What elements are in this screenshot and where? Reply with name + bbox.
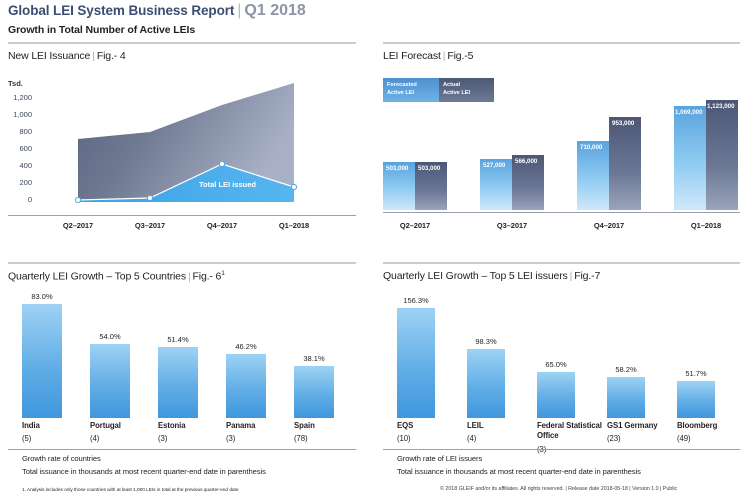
fig6-category-label: Estonia <box>158 421 185 431</box>
panel-top5-lei-issuers: Quarterly LEI Growth – Top 5 LEI issuers… <box>375 262 750 499</box>
fig7-category-label: EQS <box>397 421 459 431</box>
fig6-bar-value: 46.2% <box>216 342 276 351</box>
fig6-category-label: Panama <box>226 421 255 431</box>
fig6-bar <box>90 344 130 418</box>
fig7-bar-value: 58.2% <box>597 365 655 374</box>
fig6-bar-value: 51.4% <box>148 335 208 344</box>
fig7-category-paren: (23) <box>607 434 620 443</box>
fig5-bar-value: 1,123,000 <box>707 103 735 110</box>
fig4-xtick: Q1–2018 <box>259 221 329 230</box>
fig6-title-separator: | <box>186 271 193 283</box>
fig4-plot <box>0 42 372 242</box>
fig7-category-paren: (49) <box>677 434 690 443</box>
fig5-bar-actual <box>706 100 738 210</box>
fig7-x-axis <box>383 449 740 450</box>
fig6-figure-number: Fig.- 6 <box>193 271 222 283</box>
panel-new-lei-issuance: New LEI Issuance|Fig.- 4 Tsd. 1,200 1,00… <box>0 42 372 242</box>
fig5-bar-value: 503,000 <box>418 165 440 172</box>
fig5-legend-forecast: Forecasted Active LEI <box>383 78 439 102</box>
fig7-category-label: LEIL <box>467 421 529 431</box>
fig4-marker <box>75 197 80 202</box>
fig6-bar <box>294 366 334 418</box>
fig4-label-new: New issuance <box>200 232 250 241</box>
fig6-title-superscript: 1 <box>221 270 224 277</box>
fig5-bar-value: 1,069,000 <box>675 109 703 116</box>
fig7-bar-value: 98.3% <box>457 337 515 346</box>
fig6-bar-value: 54.0% <box>80 332 140 341</box>
report-subtitle: Growth in Total Number of Active LEIs <box>8 24 195 36</box>
fig5-legend-actual: Actual Active LEI <box>439 78 494 102</box>
report-quarter: Q1 2018 <box>244 2 305 19</box>
fig7-bar <box>607 377 645 418</box>
fig7-note-1: Growth rate of LEI issuers <box>397 454 482 463</box>
fig6-category-paren: (4) <box>90 434 99 443</box>
fig7-category-paren: (10) <box>397 434 410 443</box>
fig6-category-label: Spain <box>294 421 315 431</box>
fig5-figure-number: Fig.-5 <box>447 50 473 62</box>
fig5-bar-value: 953,000 <box>612 120 634 127</box>
fig6-bar-value: 83.0% <box>12 292 72 301</box>
report-page: Global LEI System Business Report|Q1 201… <box>0 0 750 499</box>
fig4-marker <box>219 161 224 166</box>
panel-top5-countries: Quarterly LEI Growth – Top 5 Countries|F… <box>0 262 372 499</box>
fig7-note-2: Total issuance in thousands at most rece… <box>397 467 641 476</box>
fig5-bar-value: 503,000 <box>386 165 408 172</box>
fig7-bar <box>537 372 575 418</box>
fig4-marker <box>291 184 296 189</box>
fig6-title-text: Quarterly LEI Growth – Top 5 Countries <box>8 271 186 283</box>
fig6-footnote: 1. Analysis includes only those countrie… <box>22 488 238 493</box>
copyright-line: © 2018 GLEIF and/or its affiliates. All … <box>440 486 677 492</box>
fig6-bar-value: 38.1% <box>284 354 344 363</box>
fig7-bar-value: 65.0% <box>527 360 585 369</box>
fig6-note-1: Growth rate of countries <box>22 454 101 463</box>
fig6-category-paren: (5) <box>22 434 31 443</box>
fig6-title: Quarterly LEI Growth – Top 5 Countries|F… <box>8 270 225 283</box>
fig7-title: Quarterly LEI Growth – Top 5 LEI issuers… <box>383 270 600 282</box>
fig5-xtick: Q2–2017 <box>380 221 450 230</box>
fig6-category-paren: (3) <box>158 434 167 443</box>
fig7-bar <box>677 381 715 418</box>
fig7-category-label: Federal Statistical Office <box>537 421 605 441</box>
fig6-category-label: Portugal <box>90 421 121 431</box>
fig5-bar-value: 527,000 <box>483 162 505 169</box>
report-header: Global LEI System Business Report|Q1 201… <box>8 2 306 20</box>
fig5-xtick: Q3–2017 <box>477 221 547 230</box>
panel-lei-forecast: LEI Forecast|Fig.-5 Forecasted Active LE… <box>375 42 750 242</box>
fig5-title-text: LEI Forecast <box>383 50 441 62</box>
header-separator: | <box>234 2 244 19</box>
fig6-bar <box>226 354 266 418</box>
fig5-bar-forecast <box>674 106 706 210</box>
fig5-bar-value: 566,000 <box>515 158 537 165</box>
fig7-bar-value: 156.3% <box>387 296 445 305</box>
fig4-xtick: Q4–2017 <box>187 221 257 230</box>
fig4-marker <box>147 195 152 200</box>
fig5-bar-value: 710,000 <box>580 144 602 151</box>
fig7-divider <box>383 262 740 264</box>
fig6-x-axis <box>8 449 356 450</box>
fig6-bar <box>22 304 62 418</box>
fig5-xtick: Q1–2018 <box>671 221 741 230</box>
fig4-x-axis <box>8 215 356 216</box>
fig4-xtick: Q3–2017 <box>115 221 185 230</box>
fig7-bar <box>397 308 435 418</box>
fig7-category-label: Bloomberg <box>677 421 743 431</box>
fig6-category-paren: (3) <box>226 434 235 443</box>
fig6-divider <box>8 262 356 264</box>
fig7-bar <box>467 349 505 418</box>
fig7-category-label: GS1 Germany <box>607 421 677 431</box>
fig5-title: LEI Forecast|Fig.-5 <box>383 50 473 62</box>
fig5-bar-actual <box>609 117 641 210</box>
fig7-figure-number: Fig.-7 <box>574 270 600 282</box>
fig7-title-text: Quarterly LEI Growth – Top 5 LEI issuers <box>383 270 568 282</box>
fig6-note-2: Total issuance in thousands at most rece… <box>22 467 266 476</box>
fig4-xtick: Q2–2017 <box>43 221 113 230</box>
fig5-divider <box>383 42 740 44</box>
fig5-xtick: Q4–2017 <box>574 221 644 230</box>
fig5-x-axis <box>383 212 740 213</box>
fig6-category-paren: (78) <box>294 434 307 443</box>
fig5-legend: Forecasted Active LEI Actual Active LEI <box>383 78 494 102</box>
fig7-category-paren: (4) <box>467 434 476 443</box>
fig5-bar-forecast <box>577 141 609 210</box>
fig6-bar <box>158 347 198 418</box>
fig4-label-total: Total LEI issued <box>199 180 256 189</box>
fig7-bar-value: 51.7% <box>667 369 725 378</box>
report-title: Global LEI System Business Report <box>8 3 234 18</box>
fig6-category-label: India <box>22 421 40 431</box>
